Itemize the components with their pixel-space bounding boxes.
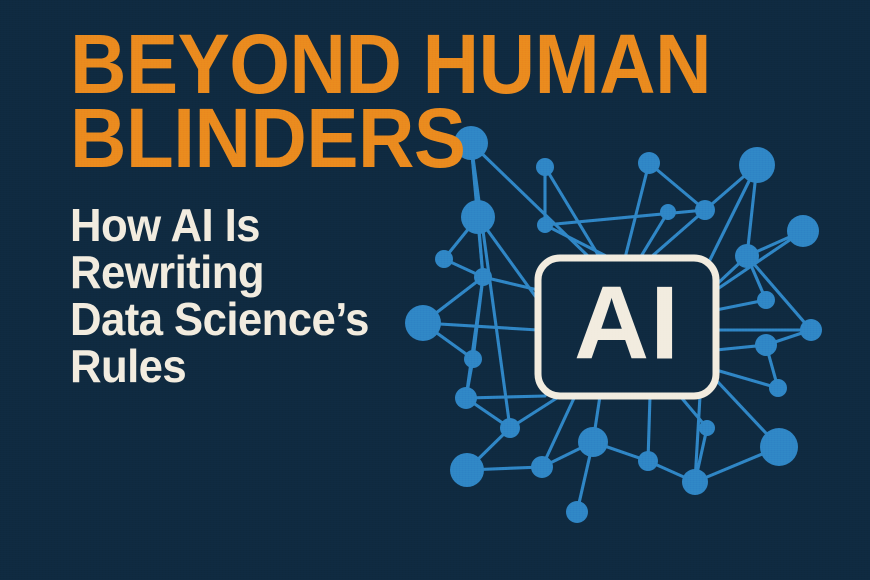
poster-canvas: AI BEYOND HUMAN BLINDERS How AI Is Rewri… [0,0,870,580]
network-node [787,215,819,247]
network-node [699,420,715,436]
subtitle-line-2: Rewriting [70,249,479,296]
network-node [536,158,554,176]
network-node [757,291,775,309]
network-node [566,501,588,523]
text-block: BEYOND HUMAN BLINDERS How AI Is Rewritin… [70,28,500,389]
network-box-edge [545,167,600,258]
network-box-edge [650,210,705,258]
network-node [739,147,775,183]
network-node [769,379,787,397]
network-box-edge [466,396,545,398]
network-node [450,453,484,487]
network-box-edge [640,212,668,258]
network-node [660,204,676,220]
network-edge [747,256,811,330]
network-box-edge [542,396,575,467]
network-node [800,319,822,341]
network-box-edge [545,225,610,258]
network-node [531,456,553,478]
network-node [638,451,658,471]
network-box-edge [716,370,778,388]
network-box-edge [625,163,649,258]
ai-box-label: AI [574,265,680,381]
network-edge [545,210,705,225]
headline-line-2: BLINDERS [70,102,470,176]
page-title: BEYOND HUMAN BLINDERS [70,28,470,176]
network-node [760,428,798,466]
subtitle-line-4: Rules [70,343,479,390]
network-node [578,427,608,457]
ai-box: AI [538,258,716,396]
network-node [537,217,553,233]
network-node [500,418,520,438]
network-node [455,387,477,409]
page-subtitle: How AI Is Rewriting Data Science’s Rules [70,202,479,390]
network-node [695,200,715,220]
subtitle-line-1: How AI Is [70,202,479,249]
network-node [638,152,660,174]
network-node [755,334,777,356]
subtitle-line-3: Data Science’s [70,296,479,343]
network-node [682,469,708,495]
network-node [735,244,759,268]
